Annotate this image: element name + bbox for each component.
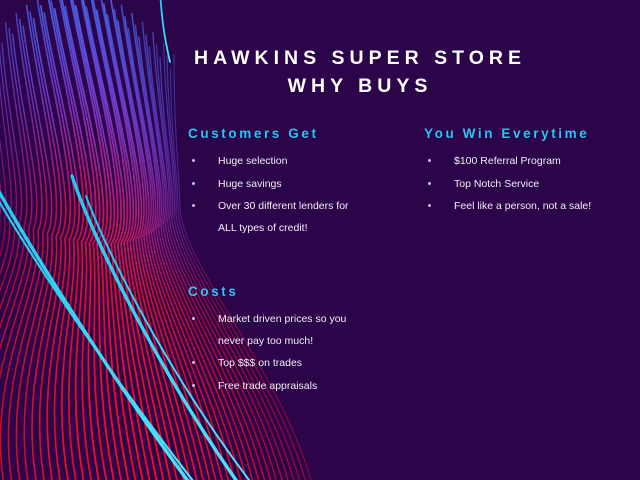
list-item: $100 Referral Program xyxy=(424,151,624,173)
fan-strand xyxy=(160,58,293,480)
bullet-dot-icon xyxy=(192,182,195,185)
fan-strand xyxy=(55,9,95,480)
title-line-2: WHY BUYS xyxy=(150,72,570,100)
bullet-list-costs: Market driven prices so you never pay to… xyxy=(188,309,398,397)
fan-strand xyxy=(0,33,11,480)
bullet-text: Market driven prices so you xyxy=(218,313,346,325)
fan-strand xyxy=(0,34,37,480)
fan-strand xyxy=(69,0,125,480)
bullet-text: Top $$$ on trades xyxy=(218,357,302,369)
title-line-1: HAWKINS SUPER STORE xyxy=(150,44,570,72)
fan-strand xyxy=(62,0,110,480)
fan-strand xyxy=(30,12,61,480)
section-heading-costs: Costs xyxy=(188,284,398,299)
bullet-dot-icon xyxy=(192,159,195,162)
fan-strand xyxy=(16,26,51,480)
section-costs: Costs Market driven prices so you never … xyxy=(188,284,398,398)
bullet-dot-icon xyxy=(192,384,195,387)
fan-strand xyxy=(0,23,27,480)
fan-strand xyxy=(167,56,304,480)
list-item: Over 30 different lenders for ALL types … xyxy=(188,196,398,239)
fan-strand xyxy=(76,6,140,480)
bullet-dot-icon xyxy=(192,361,195,364)
bullet-dot-icon xyxy=(192,204,195,207)
fan-strand xyxy=(149,47,275,480)
bullet-dot-icon xyxy=(192,317,195,320)
section-heading-customers-get: Customers Get xyxy=(188,126,398,141)
fan-strand xyxy=(41,6,75,480)
fan-strand xyxy=(51,1,88,480)
fan-strand xyxy=(0,49,1,480)
fan-strand xyxy=(72,0,132,480)
fan-strand xyxy=(146,35,269,480)
fan-strand xyxy=(83,0,154,480)
section-heading-you-win-everytime: You Win Everytime xyxy=(424,126,624,141)
fan-strand xyxy=(79,0,147,480)
bullet-text-continued: ALL types of credit! xyxy=(218,218,398,240)
fan-strand xyxy=(174,54,316,480)
fan-strand xyxy=(34,19,66,480)
fan-strand xyxy=(8,20,46,480)
fan-strand xyxy=(164,43,299,480)
bullet-text: Top Notch Service xyxy=(454,178,539,190)
fan-strand xyxy=(0,14,42,480)
slide-title: HAWKINS SUPER STORE WHY BUYS xyxy=(150,44,570,100)
fan-strand xyxy=(44,13,79,480)
list-item: Huge selection xyxy=(188,151,398,173)
bullet-text: Feel like a person, not a sale! xyxy=(454,200,591,212)
bullet-text: Free trade appraisals xyxy=(218,380,317,392)
list-item: Top $$$ on trades xyxy=(188,353,398,375)
fan-strand xyxy=(24,5,56,480)
fan-strand xyxy=(157,45,287,480)
fan-strand xyxy=(0,38,16,480)
bullet-dot-icon xyxy=(428,204,431,207)
list-item: Free trade appraisals xyxy=(188,376,398,398)
bullet-list-customers-get: Huge selection Huge savings Over 30 diff… xyxy=(188,151,398,239)
list-item: Market driven prices so you never pay to… xyxy=(188,309,398,352)
fan-strand xyxy=(48,0,84,480)
fan-strand xyxy=(0,54,6,480)
bullet-text: Huge savings xyxy=(218,178,282,190)
section-you-win-everytime: You Win Everytime $100 Referral Program … xyxy=(424,126,624,219)
bullet-dot-icon xyxy=(428,159,431,162)
bullet-list-you-win-everytime: $100 Referral Program Top Notch Service … xyxy=(424,151,624,218)
bullet-text: Huge selection xyxy=(218,155,287,167)
fan-strand xyxy=(37,0,70,480)
bullet-text-continued: never pay too much! xyxy=(218,331,398,353)
list-item: Top Notch Service xyxy=(424,174,624,196)
list-item: Huge savings xyxy=(188,174,398,196)
list-item: Feel like a person, not a sale! xyxy=(424,196,624,218)
section-customers-get: Customers Get Huge selection Huge saving… xyxy=(188,126,398,240)
slide-canvas: HAWKINS SUPER STORE WHY BUYS Customers G… xyxy=(0,0,640,480)
fan-strand xyxy=(139,37,257,480)
bullet-dot-icon xyxy=(428,182,431,185)
fan-strand xyxy=(65,7,118,480)
fan-strand xyxy=(58,0,102,480)
fan-strand xyxy=(0,28,32,480)
bullet-text: $100 Referral Program xyxy=(454,155,561,167)
bullet-text: Over 30 different lenders for xyxy=(218,200,349,212)
fan-strand xyxy=(0,44,22,480)
